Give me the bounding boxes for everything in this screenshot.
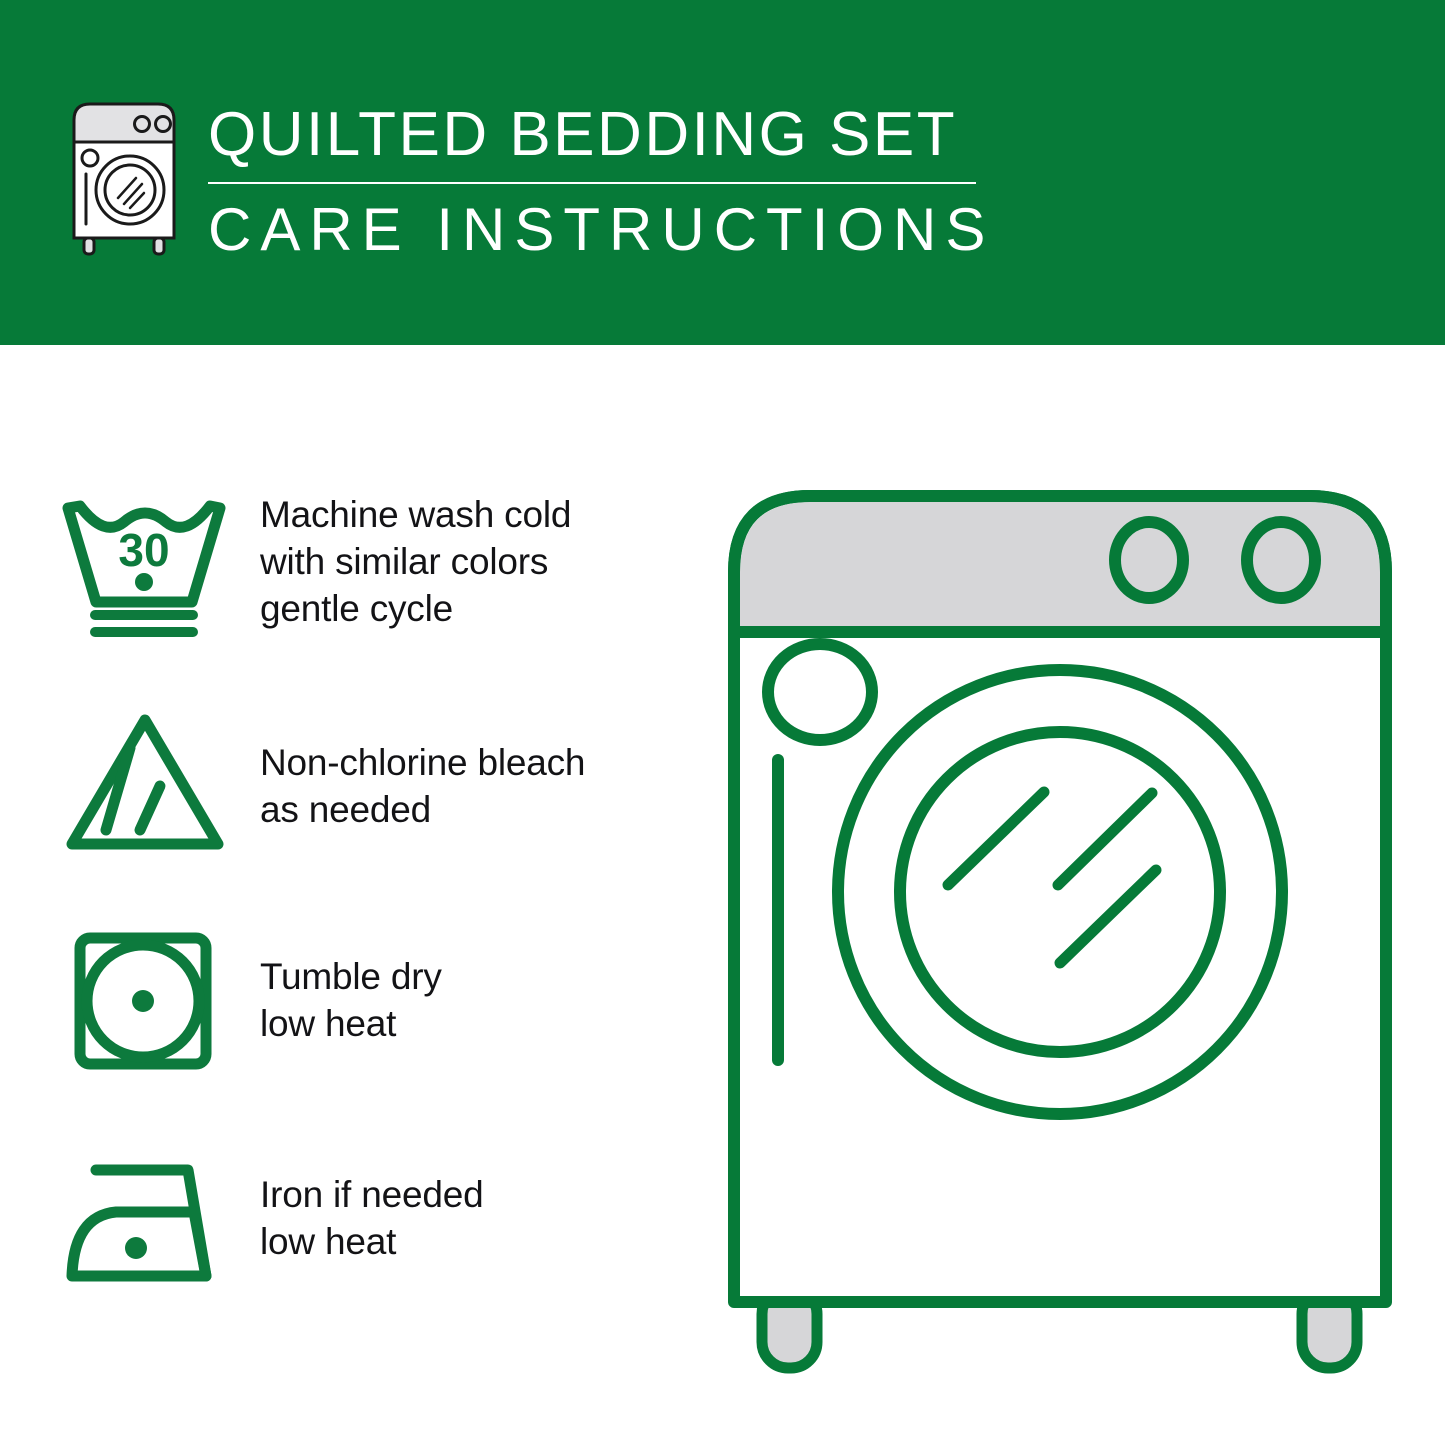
care-line: low heat [260,1219,700,1266]
title-divider [208,182,976,184]
iron-low-heat-icon [60,1134,260,1304]
care-row: Iron if needed low heat [60,1134,700,1352]
care-line: Iron if needed [260,1172,700,1219]
wash-temperature-value: 30 [118,524,169,576]
care-row-text: Iron if needed low heat [260,1134,700,1266]
care-line: with similar colors [260,539,700,586]
header-banner: QUILTED BEDDING SET CARE INSTRUCTIONS [0,0,1445,345]
washing-machine-illustration [700,460,1420,1380]
wash-tub-30-gentle-icon: 30 [60,480,260,650]
non-chlorine-bleach-triangle-icon [60,698,260,868]
care-row: 30 Machine wash cold with similar colors… [60,480,700,698]
header-title-block: QUILTED BEDDING SET CARE INSTRUCTIONS [208,104,998,260]
page-subtitle: CARE INSTRUCTIONS [208,200,998,260]
care-instruction-list: 30 Machine wash cold with similar colors… [60,480,700,1352]
tumble-dry-low-heat-icon [60,916,260,1086]
care-line: Non-chlorine bleach [260,740,700,787]
page-title: QUILTED BEDDING SET [208,104,998,166]
care-line: as needed [260,787,700,834]
care-line: Machine wash cold [260,492,700,539]
care-row-text: Tumble dry low heat [260,916,700,1048]
care-line: low heat [260,1001,700,1048]
care-row: Non-chlorine bleach as needed [60,698,700,916]
care-line: gentle cycle [260,586,700,633]
washing-machine-icon [60,98,188,258]
care-row-text: Non-chlorine bleach as needed [260,698,700,834]
care-line: Tumble dry [260,954,700,1001]
care-instructions-page: QUILTED BEDDING SET CARE INSTRUCTIONS 30 [0,0,1445,1445]
care-row: Tumble dry low heat [60,916,700,1134]
care-row-text: Machine wash cold with similar colors ge… [260,480,700,633]
